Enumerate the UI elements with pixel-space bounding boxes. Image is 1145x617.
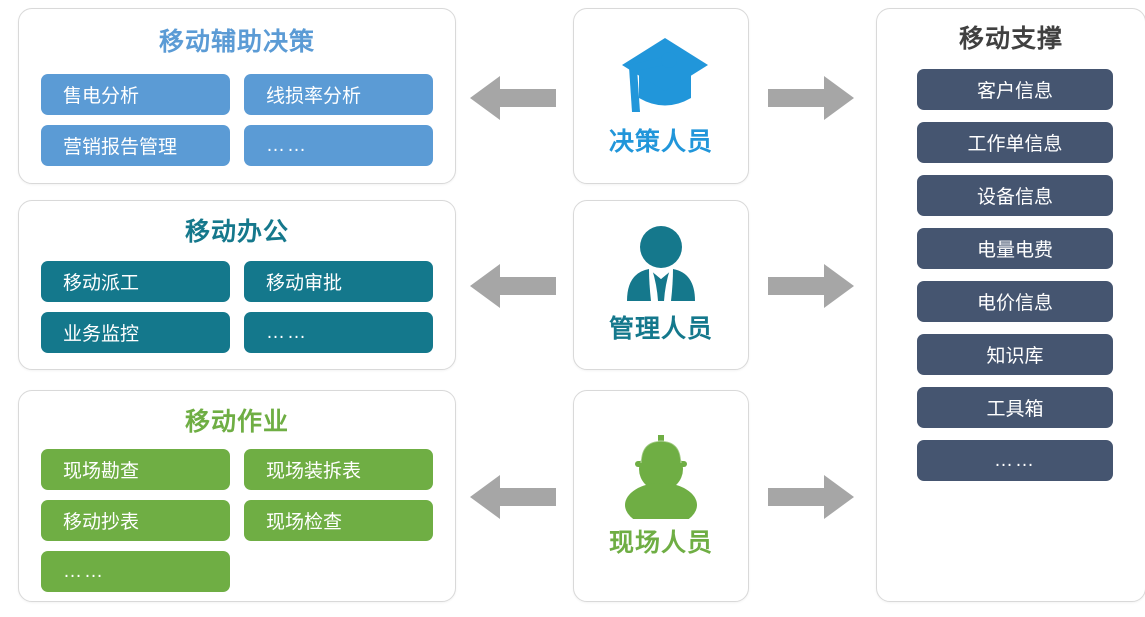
chip-item[interactable]: 移动派工 [41,261,230,302]
support-item[interactable]: 电量电费 [917,228,1113,269]
chip-item[interactable]: 营销报告管理 [41,125,230,166]
panel-item-grid: 售电分析 线损率分析 营销报告管理 …… [41,74,433,166]
chip-item[interactable]: 移动抄表 [41,500,230,541]
chip-item[interactable]: 现场装拆表 [244,449,433,490]
support-item-list: 客户信息 工作单信息 设备信息 电量电费 电价信息 知识库 工具箱 …… [917,69,1113,481]
chip-item[interactable]: 业务监控 [41,312,230,353]
panel-title: 移动辅助决策 [19,30,455,55]
persona-label: 管理人员 [609,309,713,345]
persona-label: 现场人员 [609,523,713,559]
arrow-left-icon [470,70,556,126]
panel-mobile-support: 移动支撑 客户信息 工作单信息 设备信息 电量电费 电价信息 知识库 工具箱 …… [876,8,1145,602]
chip-item[interactable]: 现场勘查 [41,449,230,490]
chip-item[interactable]: 线损率分析 [244,74,433,115]
persona-card-field-worker[interactable]: 现场人员 [573,390,749,602]
support-item[interactable]: 设备信息 [917,175,1113,216]
panel-decision-support: 移动辅助决策 售电分析 线损率分析 营销报告管理 …… [18,8,456,184]
chip-item[interactable]: 现场检查 [244,500,433,541]
panel-title: 移动办公 [19,220,455,245]
hardhat-worker-icon [619,433,703,519]
panel-mobile-office: 移动办公 移动派工 移动审批 业务监控 …… [18,200,456,370]
support-item-more[interactable]: …… [917,440,1113,481]
persona-card-manager[interactable]: 管理人员 [573,200,749,370]
support-item[interactable]: 工具箱 [917,387,1113,428]
chip-item-more[interactable]: …… [244,312,433,353]
panel-item-grid: 移动派工 移动审批 业务监控 …… [41,261,433,353]
chip-item[interactable]: 售电分析 [41,74,230,115]
chip-item-more[interactable]: …… [244,125,433,166]
arrow-right-icon [768,469,854,525]
diagram-canvas: 移动辅助决策 售电分析 线损率分析 营销报告管理 …… 移动办公 移动派工 移动… [0,0,1145,617]
panel-item-grid: 现场勘查 现场装拆表 移动抄表 现场检查 …… [41,449,433,592]
persona-card-decision-maker[interactable]: 决策人员 [573,8,749,184]
panel-title: 移动作业 [19,410,455,435]
support-item[interactable]: 工作单信息 [917,122,1113,163]
chip-item-more[interactable]: …… [41,551,230,592]
businessperson-icon [619,225,703,305]
panel-mobile-field-work: 移动作业 现场勘查 现场装拆表 移动抄表 现场检查 …… [18,390,456,602]
persona-label: 决策人员 [609,122,713,158]
arrow-left-icon [470,469,556,525]
graduation-cap-icon [613,34,709,118]
panel-title: 移动支撑 [877,27,1145,52]
chip-item[interactable]: 移动审批 [244,261,433,302]
arrow-right-icon [768,70,854,126]
support-item[interactable]: 电价信息 [917,281,1113,322]
support-item[interactable]: 客户信息 [917,69,1113,110]
support-item[interactable]: 知识库 [917,334,1113,375]
arrow-left-icon [470,258,556,314]
arrow-right-icon [768,258,854,314]
